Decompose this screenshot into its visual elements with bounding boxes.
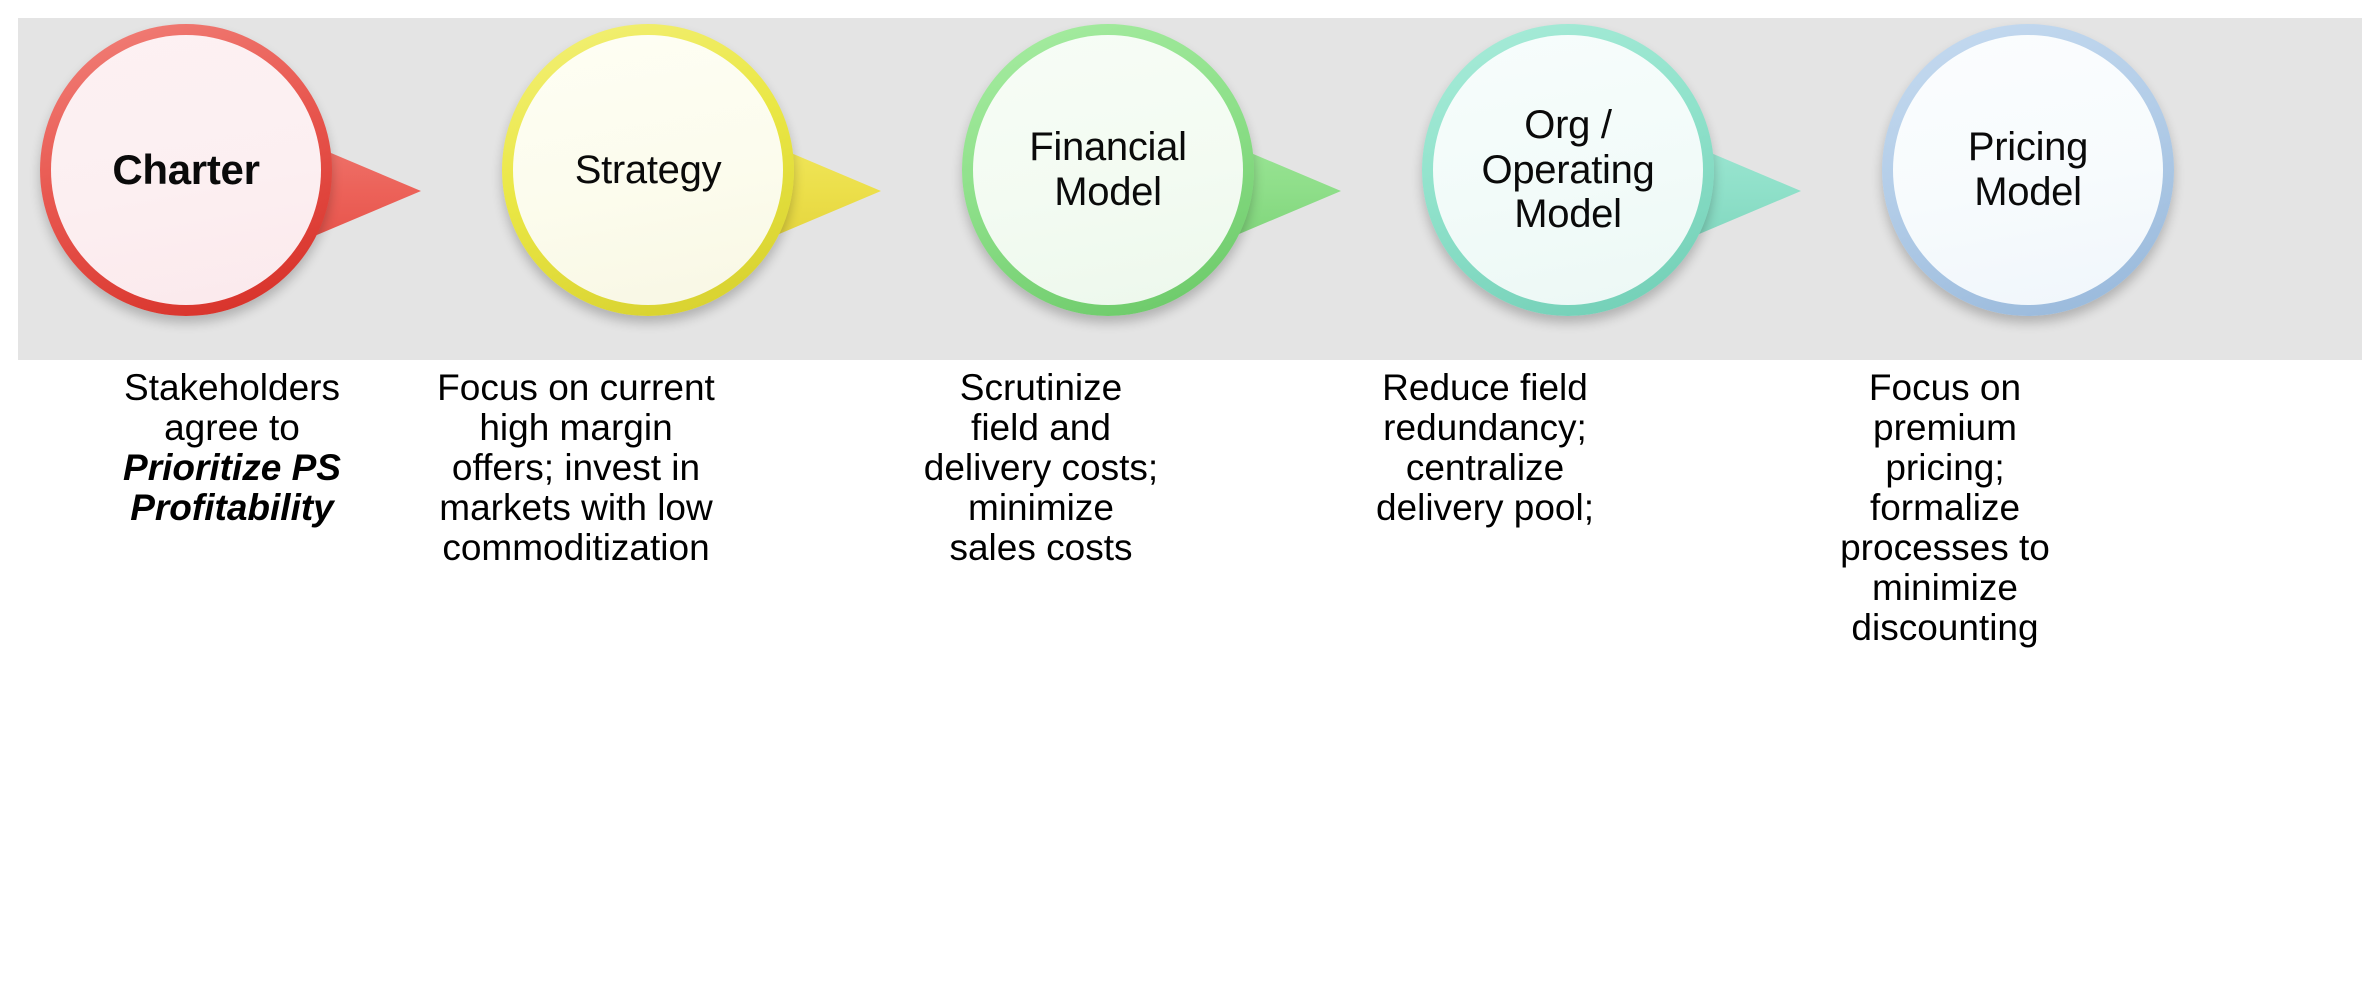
step-circle-financial-model[interactable]: Financial Model [962,24,1254,316]
process-step-pricing-model[interactable]: Pricing Model [1856,0,2332,378]
diagram-canvas: Charter Strategy Financial Model [0,0,2380,996]
step-caption-strategy: Focus on current high margin offers; inv… [391,368,761,568]
caption-line: premium [1760,408,2130,448]
caption-line: offers; invest in [391,448,761,488]
step-label-strategy: Strategy [523,148,773,193]
step-label-org-operating-model: Org / Operating Model [1443,103,1693,237]
caption-line: Focus on current [391,368,761,408]
process-flow-row: Charter Strategy Financial Model [0,0,2380,378]
step-label-pricing-model: Pricing Model [1903,125,2153,215]
step-captions-row: Stakeholders agree to Prioritize PS Prof… [0,368,2380,988]
caption-line: pricing; [1760,448,2130,488]
caption-line: Reduce field [1300,368,1670,408]
step-circle-pricing-model[interactable]: Pricing Model [1882,24,2174,316]
step-label-financial-model: Financial Model [983,125,1233,215]
step-caption-pricing-model: Focus on premium pricing; formalize proc… [1760,368,2130,648]
caption-line: formalize [1760,488,2130,528]
caption-line: centralize [1300,448,1670,488]
caption-line: minimize [1760,568,2130,608]
caption-line: delivery costs; [856,448,1226,488]
caption-line: high margin [391,408,761,448]
step-caption-org-operating-model: Reduce field redundancy; centralize deli… [1300,368,1670,528]
caption-line: markets with low [391,488,761,528]
step-label-charter: Charter [61,146,311,193]
caption-line: delivery pool; [1300,488,1670,528]
caption-line: commoditization [391,528,761,568]
step-circle-strategy[interactable]: Strategy [502,24,794,316]
step-caption-financial-model: Scrutinize field and delivery costs; min… [856,368,1226,568]
caption-line: processes to [1760,528,2130,568]
caption-line: minimize [856,488,1226,528]
caption-line: agree to [47,408,417,448]
caption-line: Focus on [1760,368,2130,408]
step-circle-charter[interactable]: Charter [40,24,332,316]
caption-emphasis-line: Prioritize PS [47,448,417,488]
caption-line: redundancy; [1300,408,1670,448]
caption-line: Stakeholders [47,368,417,408]
step-caption-charter: Stakeholders agree to Prioritize PS Prof… [47,368,417,528]
caption-line: field and [856,408,1226,448]
caption-line: sales costs [856,528,1226,568]
caption-line: discounting [1760,608,2130,648]
step-circle-org-operating-model[interactable]: Org / Operating Model [1422,24,1714,316]
caption-line: Scrutinize [856,368,1226,408]
caption-emphasis-line: Profitability [47,488,417,528]
